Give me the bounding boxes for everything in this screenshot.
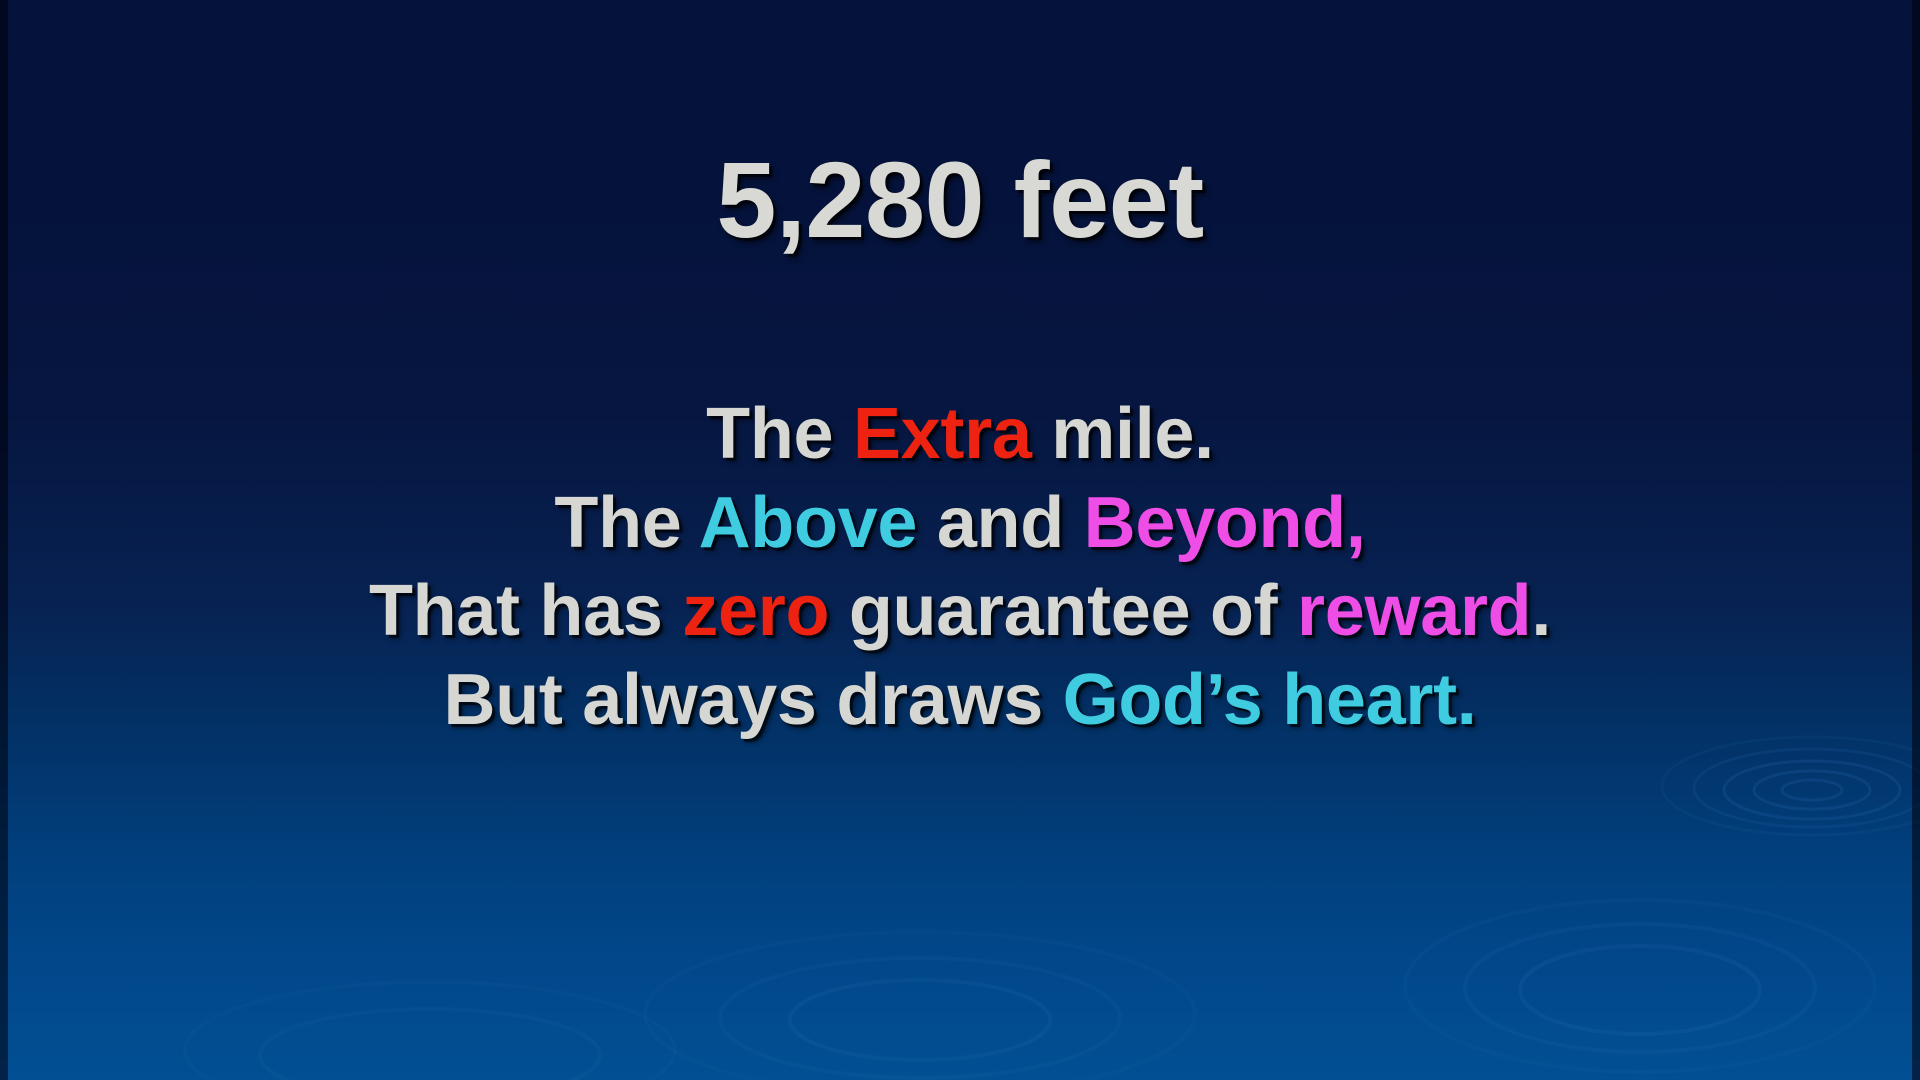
slide-content: 5,280 feet The Extra mile. The Above and…	[0, 0, 1920, 1080]
verse-text-run: But always draws	[444, 660, 1063, 740]
verse-text-run: reward	[1297, 571, 1531, 651]
verse-text-run: and	[917, 483, 1084, 563]
verse-text-run: The	[706, 394, 853, 474]
verse-text-run: zero	[682, 571, 829, 651]
verse-line-line-2: The Above and Beyond,	[250, 479, 1670, 568]
verse-text-run: mile.	[1032, 394, 1214, 474]
verse-text-run: Above	[699, 483, 918, 563]
verse-line-line-1: The Extra mile.	[250, 390, 1670, 479]
verse-text-run: The	[554, 483, 698, 563]
verse-text-run: That has	[369, 571, 682, 651]
slide-headline: 5,280 feet	[0, 143, 1920, 256]
verse-text-run: God’s heart.	[1063, 660, 1477, 740]
verse-text-run: Extra	[853, 394, 1032, 474]
verse-text-run: Beyond,	[1084, 483, 1366, 563]
verse-line-line-3: That has zero guarantee of reward.	[250, 567, 1670, 656]
verse-block: The Extra mile. The Above and Beyond, Th…	[250, 390, 1670, 744]
verse-line-line-4: But always draws God’s heart.	[250, 656, 1670, 745]
verse-text-run: .	[1531, 571, 1551, 651]
verse-text-run: guarantee of	[829, 571, 1297, 651]
presentation-slide: 5,280 feet The Extra mile. The Above and…	[0, 0, 1920, 1080]
